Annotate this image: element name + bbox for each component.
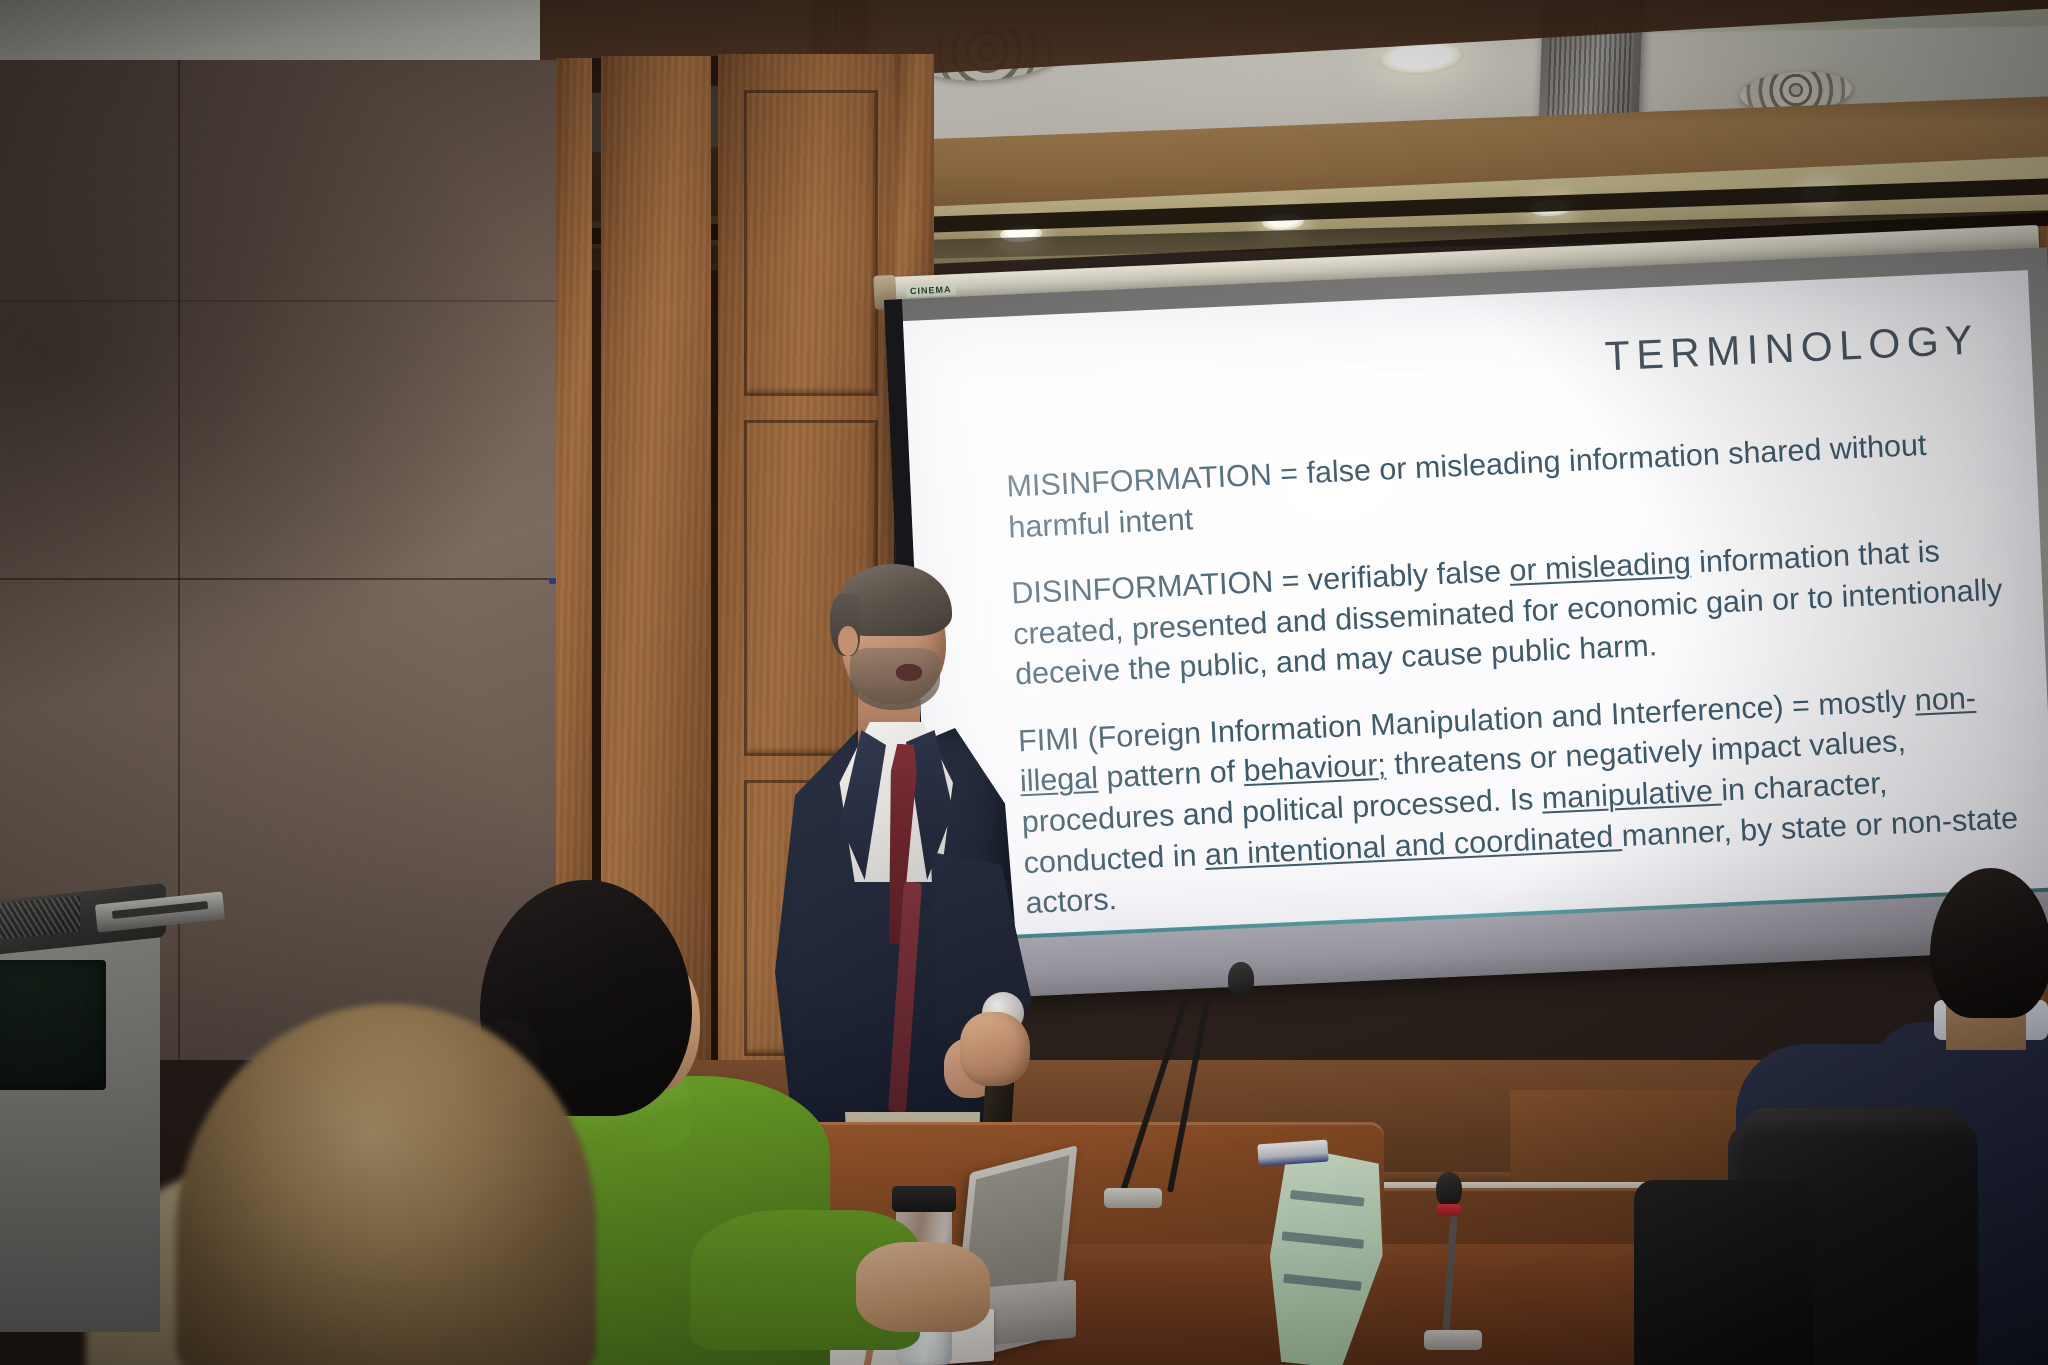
gooseneck-microphone-head — [1228, 962, 1254, 996]
slide-paragraph-fimi: FIMI (Foreign Information Manipulation a… — [1017, 675, 2035, 923]
screen-brand-label: CINEMA — [906, 283, 956, 297]
water-bottle-cap — [892, 1186, 956, 1212]
note-handwriting-line — [1283, 1274, 1362, 1291]
slide-paragraph-misinformation: MISINFORMATION = false or misleading inf… — [1006, 421, 2019, 548]
slide-text-run: pattern of — [1097, 755, 1244, 796]
console-display — [0, 960, 106, 1090]
wall-panel-seam — [0, 300, 560, 302]
slide-underlined-term: or misleading — [1509, 546, 1692, 588]
slide-paragraph-disinformation: DISINFORMATION = verifiably false or mis… — [1011, 528, 2025, 695]
note-handwriting-line — [1282, 1231, 1364, 1249]
conference-room-photo: CINEMA TERMINOLOGY MISINFORMATION = fals… — [0, 0, 2048, 1365]
gooseneck-microphone-base — [1424, 1330, 1482, 1350]
wall-panel-seam — [0, 578, 560, 580]
presenter — [746, 552, 1046, 1152]
gooseneck-microphone-head — [1436, 1172, 1462, 1206]
presenter-hand — [960, 1012, 1030, 1086]
wood-panel-frame — [744, 90, 878, 396]
slide-underlined-term: manipulative — [1541, 773, 1722, 815]
microphone-indicator-ring — [1437, 1204, 1461, 1216]
presenter-beard — [850, 648, 940, 710]
slide-title: TERMINOLOGY — [1604, 316, 1980, 380]
wood-groove — [711, 56, 718, 1070]
wood-pilaster — [894, 54, 934, 294]
gooseneck-microphone-base — [1104, 1188, 1162, 1208]
note-handwriting-line — [1290, 1190, 1365, 1207]
projection-screen: TERMINOLOGY MISINFORMATION = false or mi… — [884, 247, 2048, 1001]
attendee-hand-typing — [856, 1242, 990, 1332]
wall-blue-marker — [549, 578, 556, 584]
slide-surface: TERMINOLOGY MISINFORMATION = false or mi… — [903, 270, 2048, 940]
chair-back — [1634, 1180, 1814, 1365]
presenter-mouth — [896, 664, 922, 681]
slide-underlined-term: behaviour; — [1243, 748, 1387, 788]
slide-body-text: MISINFORMATION = false or misleading inf… — [1006, 421, 2037, 941]
slide-text-run: MISINFORMATION = false or misleading inf… — [1006, 428, 1927, 544]
